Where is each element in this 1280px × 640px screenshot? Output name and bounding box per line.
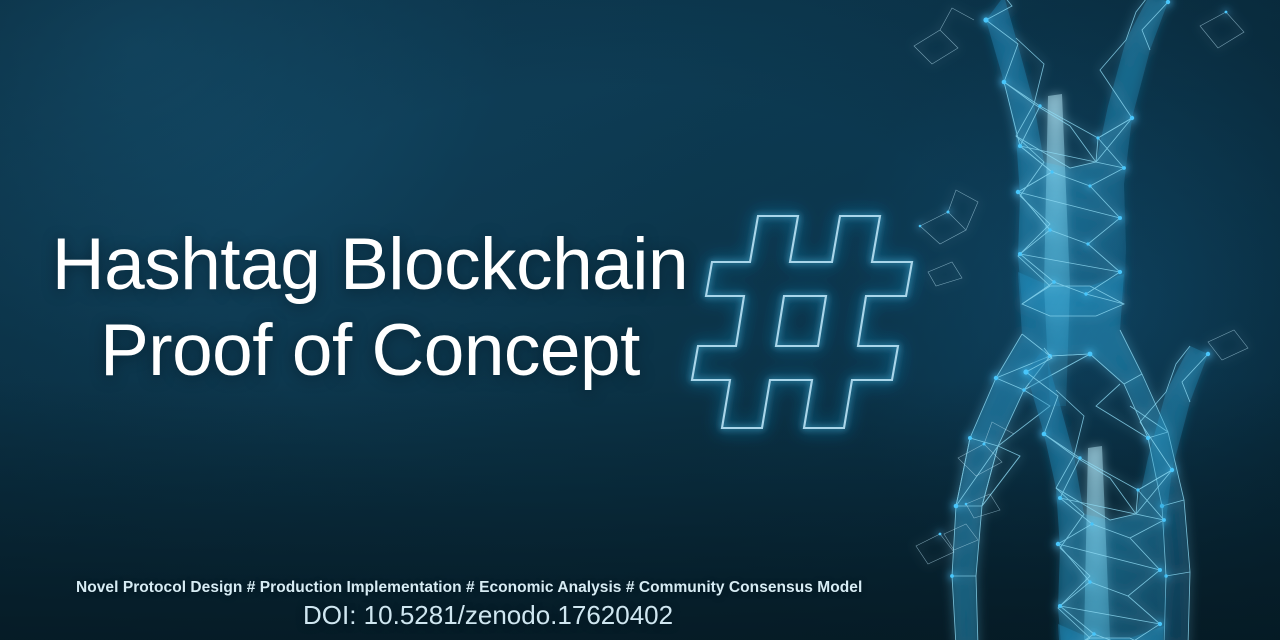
poster-canvas: Hashtag Blockchain Proof of Concept Nove… <box>0 0 1280 640</box>
low-poly-wireframe-chain-icon <box>900 0 1280 640</box>
hashtag-outline-glow-icon <box>686 196 932 448</box>
page-title: Hashtag Blockchain Proof of Concept <box>40 222 700 394</box>
doi-label[interactable]: DOI: 10.5281/zenodo.17620402 <box>0 598 1280 632</box>
title-line-1: Hashtag Blockchain <box>40 222 700 308</box>
topic-tags-line: Novel Protocol Design # Production Imple… <box>0 578 1280 598</box>
title-line-2: Proof of Concept <box>40 308 700 394</box>
footer: Novel Protocol Design # Production Imple… <box>0 578 1280 632</box>
